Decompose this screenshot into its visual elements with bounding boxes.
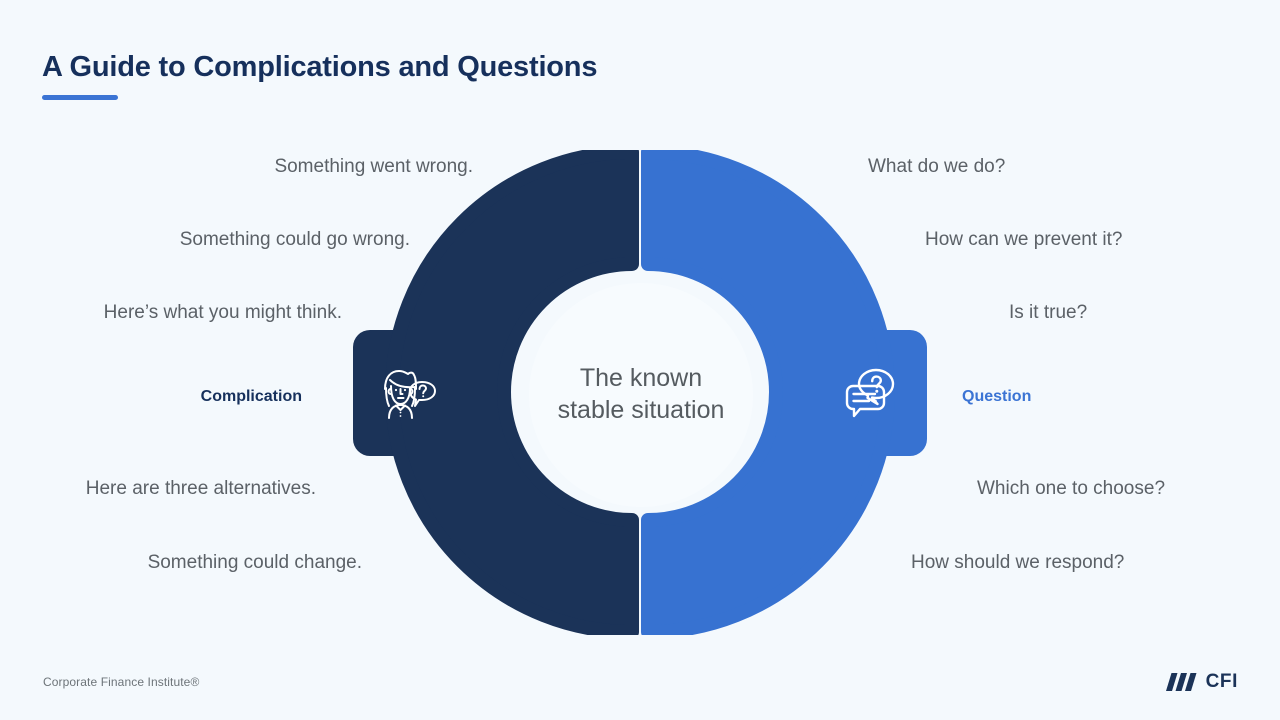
- slide-canvas: A Guide to Complications and Questions T…: [0, 0, 1280, 720]
- complication-item-3: Here’s what you might think.: [104, 303, 342, 322]
- center-label: The known stable situation: [551, 363, 731, 427]
- question-heading: Question: [962, 388, 1031, 406]
- question-item-1: What do we do?: [868, 157, 1005, 176]
- question-item-3: Is it true?: [1009, 303, 1087, 322]
- complication-item-5: Something could change.: [148, 553, 362, 572]
- complication-item-2: Something could go wrong.: [180, 230, 410, 249]
- question-item-4: Which one to choose?: [977, 479, 1165, 498]
- chat-question-icon: [834, 358, 906, 430]
- cfi-logo-mark-icon: [1165, 672, 1199, 692]
- complication-item-4: Here are three alternatives.: [86, 479, 316, 498]
- complication-item-1: Something went wrong.: [274, 157, 473, 176]
- cfi-logo-text: CFI: [1206, 671, 1238, 693]
- complication-heading: Complication: [201, 388, 302, 406]
- center-disc: The known stable situation: [529, 283, 753, 507]
- cfi-logo: CFI: [1165, 671, 1238, 693]
- person-question-icon: [369, 358, 441, 430]
- question-item-2: How can we prevent it?: [925, 230, 1123, 249]
- question-item-5: How should we respond?: [911, 553, 1124, 572]
- footer-brand-text: Corporate Finance Institute®: [43, 675, 199, 689]
- complication-question-diagram: The known stable situation: [0, 0, 1280, 720]
